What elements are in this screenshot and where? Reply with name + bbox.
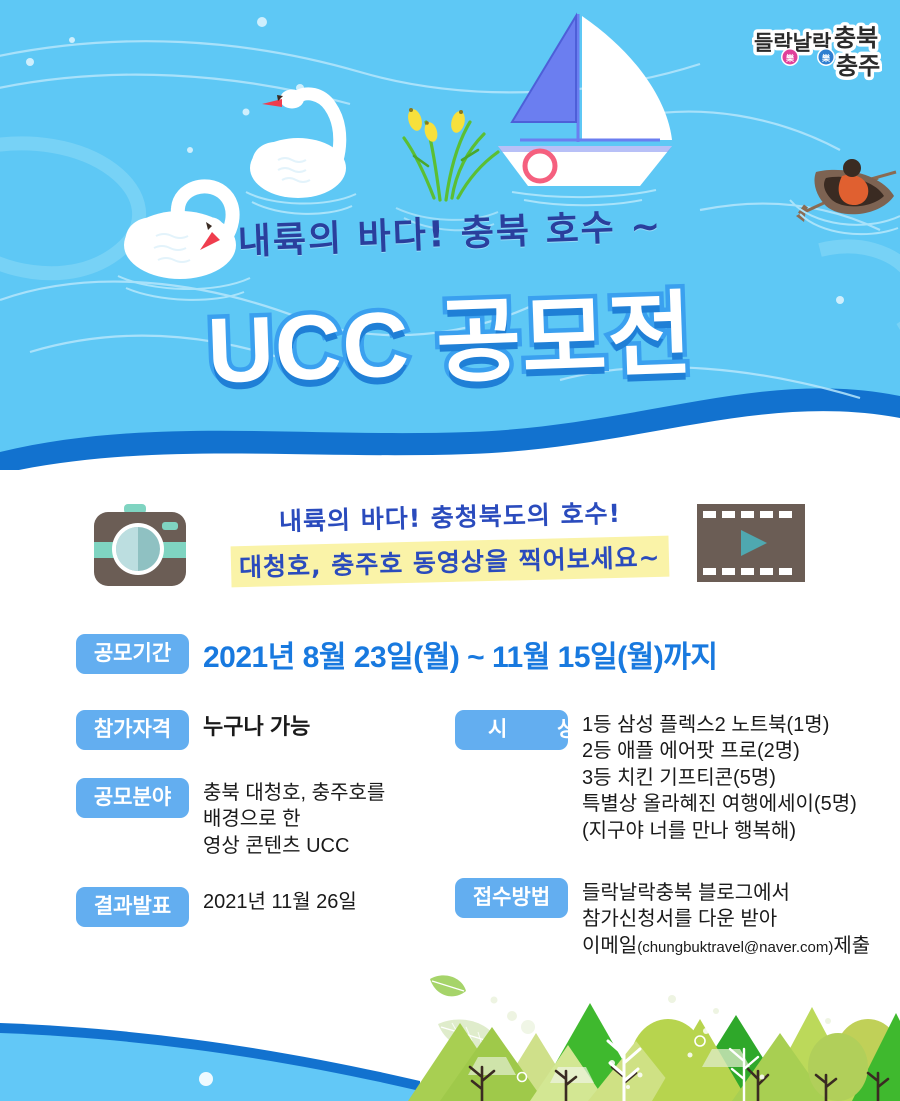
- period-row: 공모기간 2021년 8월 23일(월) ~ 11월 15일(월)까지: [76, 632, 717, 676]
- badge-announcement: 결과발표: [76, 887, 189, 927]
- badge-submission: 접수방법: [455, 878, 568, 918]
- email-address: (chungbuktravel@naver.com): [637, 939, 833, 956]
- category-line-1: 배경으로 한: [203, 806, 385, 832]
- poster-root: 들락날락 들락날락 충북 충북 樂 樂 충주 충주 내륙의 바다! 충북 호수 …: [0, 0, 900, 1101]
- announcement-body: 2021년 11월 26일: [203, 885, 357, 915]
- info-row-eligibility: 참가자격 누구나 가능: [76, 708, 456, 750]
- category-line-0: 충북 대청호, 충주호를: [203, 780, 385, 806]
- prizes-body: 1등 삼성 플렉스2 노트북(1명) 2등 애플 에어팟 프로(2명) 3등 치…: [582, 708, 857, 844]
- info-row-prizes: 시 상 1등 삼성 플렉스2 노트북(1명) 2등 애플 에어팟 프로(2명) …: [455, 708, 885, 844]
- badge-prizes: 시 상: [455, 710, 568, 750]
- prize-line-4: (지구야 너를 만나 행복해): [582, 818, 857, 844]
- info-row-category: 공모분야 충북 대청호, 충주호를 배경으로 한 영상 콘텐츠 UCC: [76, 776, 456, 859]
- prize-line-3: 특별상 올라혜진 여행에세이(5명): [582, 791, 857, 817]
- submission-line-email: 이메일(chungbuktravel@naver.com)제출: [582, 933, 870, 959]
- bottom-scenery: [0, 971, 900, 1101]
- email-suffix-label: 제출: [833, 935, 870, 957]
- badge-category: 공모분야: [76, 778, 189, 818]
- info-column-right: 시 상 1등 삼성 플렉스2 노트북(1명) 2등 애플 에어팟 프로(2명) …: [455, 708, 885, 985]
- info-row-announcement: 결과발표 2021년 11월 26일: [76, 885, 456, 927]
- forest-trees-decor: [408, 1003, 900, 1101]
- svg-text:충주: 충주: [836, 52, 880, 80]
- film-strip-play-icon: [697, 504, 805, 587]
- eligibility-line-0: 누구나 가능: [203, 712, 310, 741]
- midband-script-block: 내륙의 바다! 충청북도의 호수! 대청호, 충주호 동영상을 찍어보세요~: [200, 498, 700, 582]
- forest-and-water-svg: [0, 971, 900, 1101]
- prize-line-1: 2등 애플 에어팟 프로(2명): [582, 738, 857, 764]
- svg-text:樂: 樂: [821, 53, 831, 63]
- brand-logo: 들락날락 들락날락 충북 충북 樂 樂 충주 충주: [752, 16, 882, 86]
- camera-icon: [88, 502, 192, 593]
- svg-text:樂: 樂: [785, 53, 795, 63]
- submission-body: 들락날락충북 블로그에서 참가신청서를 다운 받아 이메일(chungbuktr…: [582, 876, 870, 959]
- prize-line-2: 3등 치킨 기프티콘(5명): [582, 765, 857, 791]
- info-row-submission: 접수방법 들락날락충북 블로그에서 참가신청서를 다운 받아 이메일(chung…: [455, 876, 885, 959]
- midband-script-line1: 내륙의 바다! 충청북도의 호수!: [279, 494, 622, 538]
- badge-eligibility: 참가자격: [76, 710, 189, 750]
- midband-section: 내륙의 바다! 충청북도의 호수! 대청호, 충주호 동영상을 찍어보세요~: [0, 490, 900, 600]
- hero-lake-scene: 들락날락 들락날락 충북 충북 樂 樂 충주 충주 내륙의 바다! 충북 호수 …: [0, 0, 900, 470]
- period-value: 2021년 8월 23일(월) ~ 11월 15일(월)까지: [203, 632, 717, 676]
- email-prefix-label: 이메일: [582, 935, 637, 957]
- eligibility-body: 누구나 가능: [203, 708, 310, 741]
- category-line-2: 영상 콘텐츠 UCC: [203, 833, 385, 859]
- badge-period: 공모기간: [76, 634, 189, 674]
- announcement-line-0: 2021년 11월 26일: [203, 889, 357, 915]
- submission-line-1: 참가신청서를 다운 받아: [582, 906, 870, 932]
- category-body: 충북 대청호, 충주호를 배경으로 한 영상 콘텐츠 UCC: [203, 776, 385, 859]
- info-column-left: 참가자격 누구나 가능 공모분야 충북 대청호, 충주호를 배경으로 한 영상 …: [76, 708, 456, 953]
- submission-line-0: 들락날락충북 블로그에서: [582, 880, 870, 906]
- midband-script-line2: 대청호, 충주호 동영상을 찍어보세요~: [231, 536, 669, 588]
- prize-line-0: 1등 삼성 플렉스2 노트북(1명): [582, 712, 857, 738]
- svg-text:충북: 충북: [834, 24, 878, 52]
